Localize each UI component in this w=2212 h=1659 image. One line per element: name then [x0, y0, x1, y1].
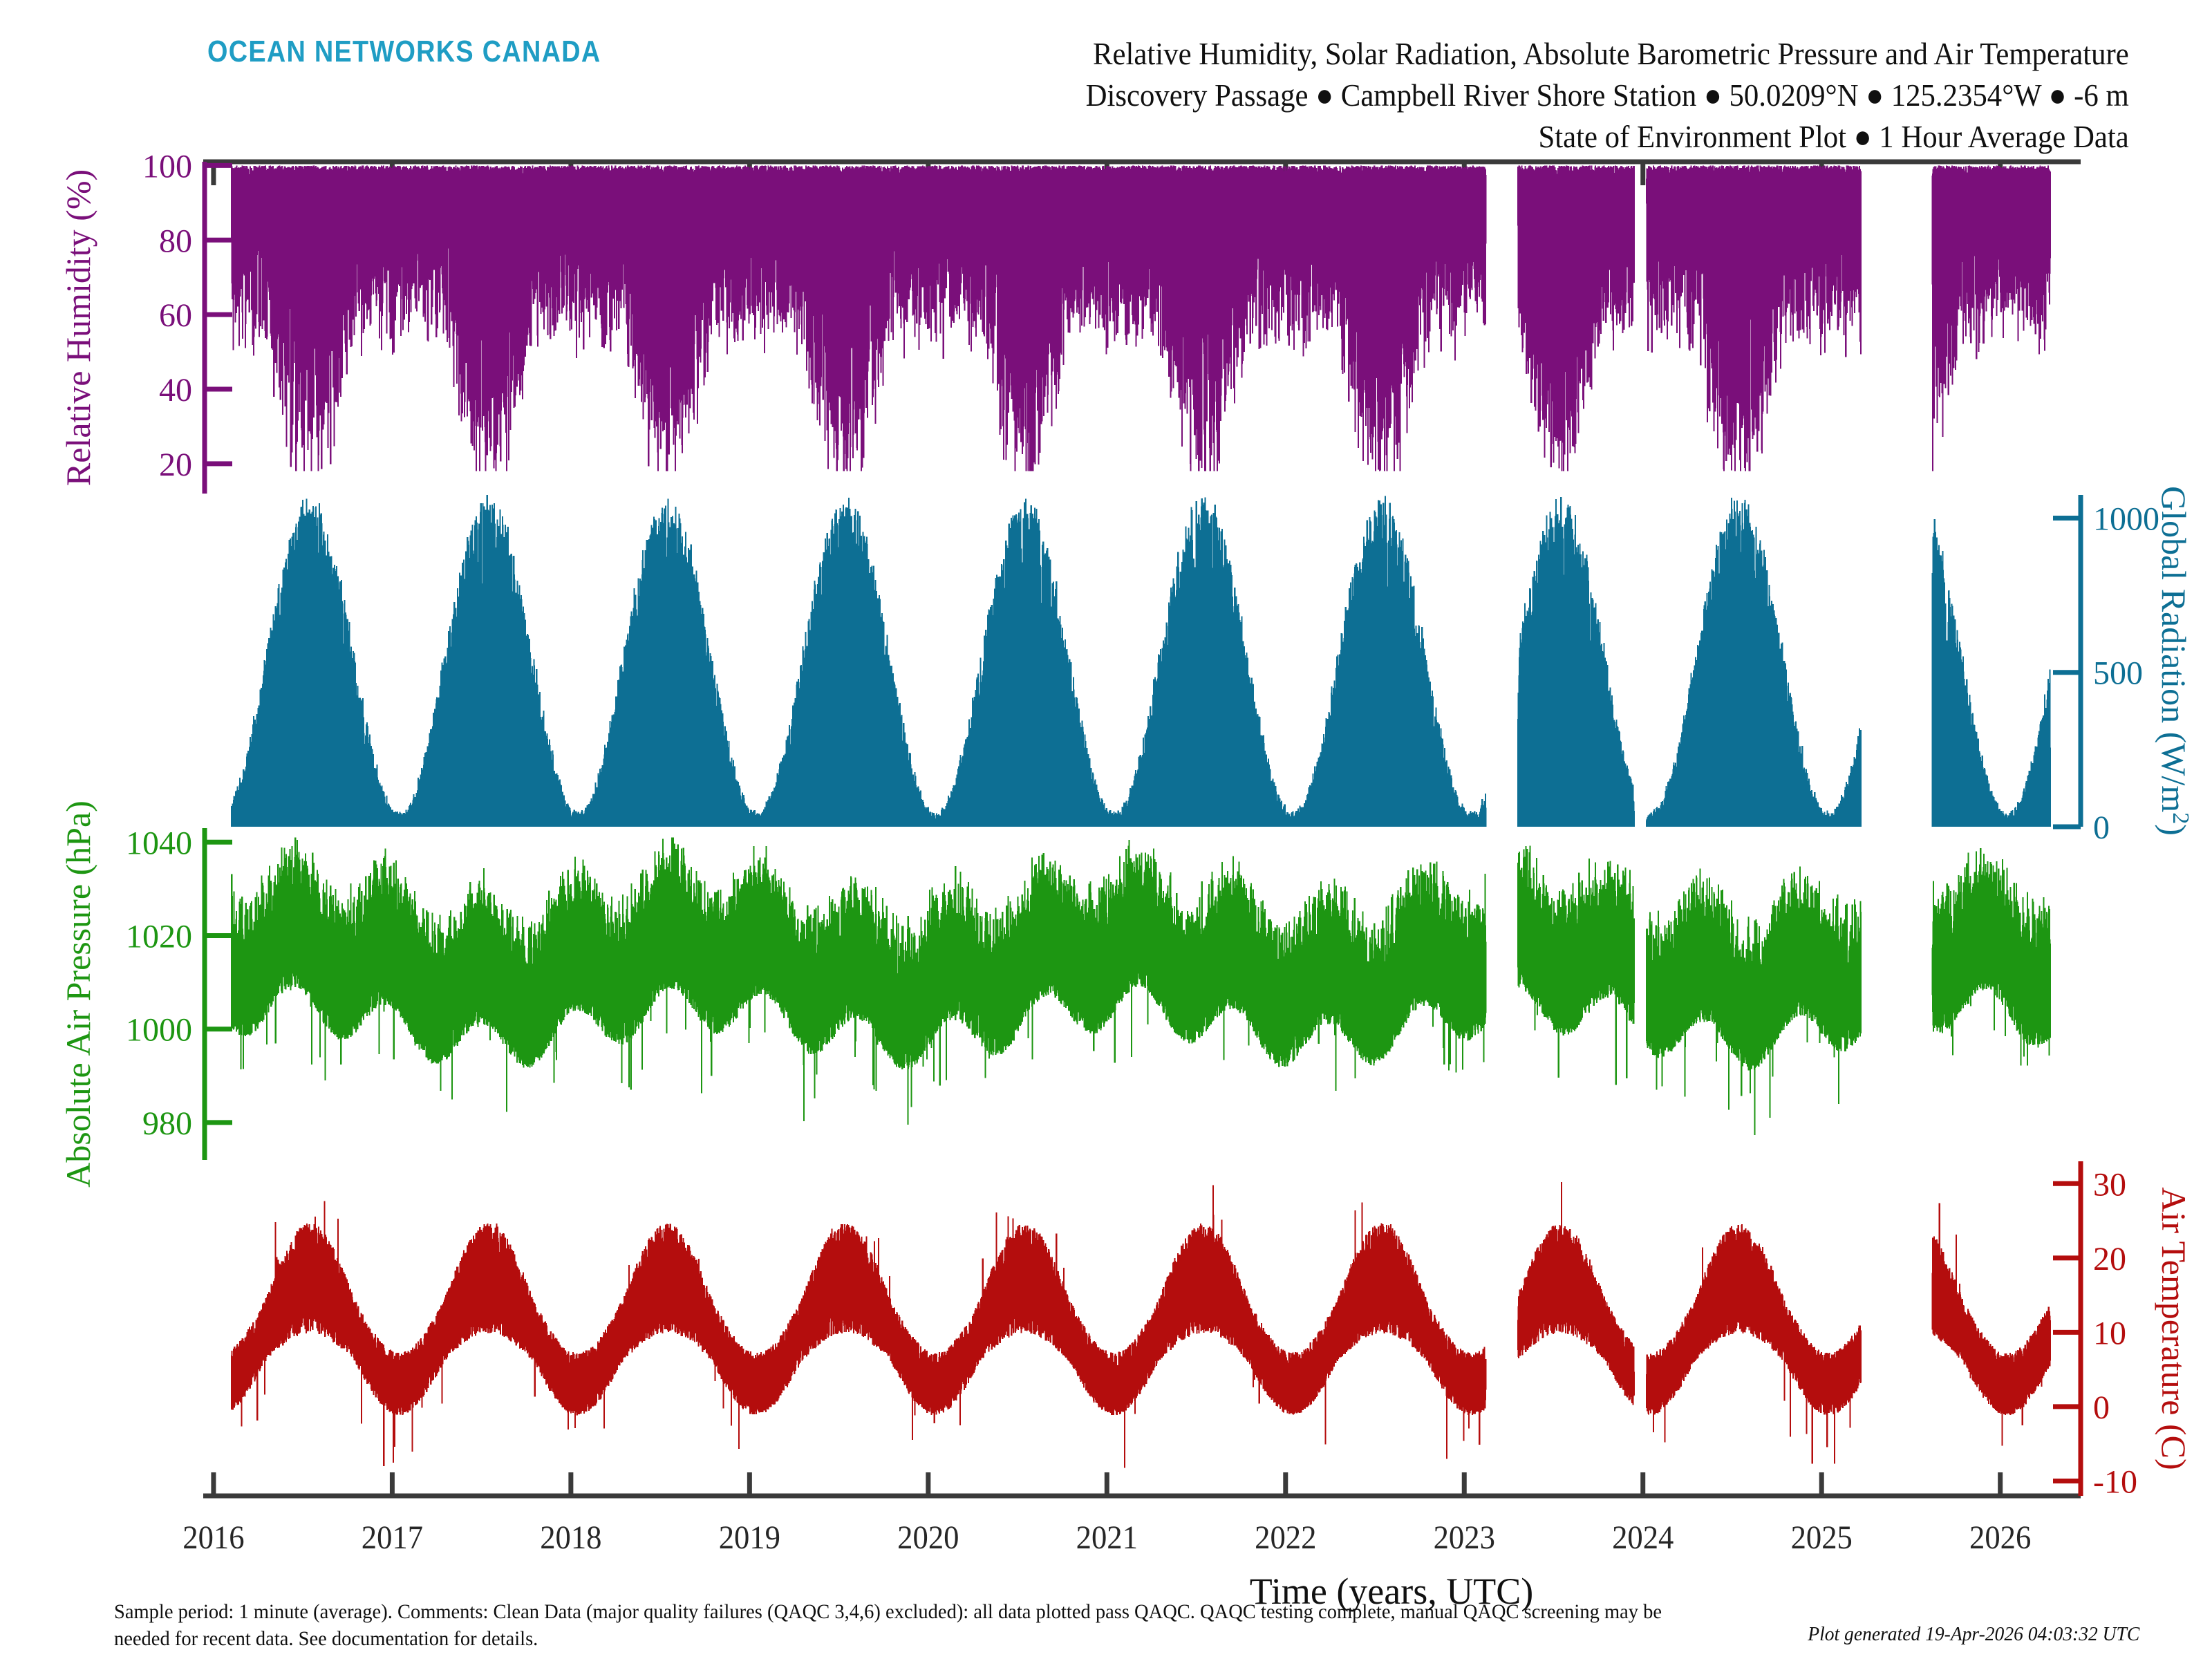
- y-tick-label-relative-humidity: 100: [142, 148, 192, 185]
- y-tick-label-absolute-air-pressure: 1020: [126, 918, 192, 955]
- y-tick-label-relative-humidity: 40: [159, 372, 192, 409]
- series-global-radiation: [232, 495, 2050, 827]
- y-tick-label-air-temperature: 30: [2093, 1166, 2126, 1203]
- x-tick-label: 2017: [362, 1520, 423, 1557]
- x-tick-label: 2026: [1969, 1520, 2031, 1557]
- y-tick-label-absolute-air-pressure: 1040: [126, 825, 192, 861]
- x-tick-label: 2016: [182, 1520, 244, 1557]
- y-tick-label-global-radiation: 1000: [2093, 500, 2159, 537]
- y-tick-label-global-radiation: 500: [2093, 655, 2143, 692]
- data-trace-relative-humidity: [232, 165, 2050, 471]
- y-tick-label-absolute-air-pressure: 980: [142, 1105, 192, 1142]
- panel-relative-humidity: 20406080100Relative Humidity (%): [59, 148, 232, 494]
- superscript-2: 2: [2168, 812, 2193, 824]
- y-tick-label-air-temperature: 10: [2093, 1315, 2126, 1351]
- x-tick-label: 2025: [1791, 1520, 1853, 1557]
- multi-panel-timeseries-chart: 2016201720182019202020212022202320242025…: [0, 0, 2212, 1659]
- panel-absolute-air-pressure: 980100010201040Absolute Air Pressure (hP…: [59, 800, 232, 1188]
- y-axis-label-global-radiation: Global Radiation (W/m2): [2155, 486, 2193, 836]
- y-axis-label-relative-humidity: Relative Humidity (%): [59, 169, 97, 486]
- x-tick-label: 2023: [1434, 1520, 1495, 1557]
- plot-canvas: OCEAN NETWORKS CANADA Relative Humidity,…: [0, 0, 2212, 1659]
- series-relative-humidity: [232, 165, 2050, 471]
- y-axis-label-absolute-air-pressure: Absolute Air Pressure (hPa): [59, 800, 97, 1188]
- y-tick-label-global-radiation: 0: [2093, 809, 2110, 846]
- x-tick-label: 2022: [1255, 1520, 1316, 1557]
- y-tick-label-air-temperature: 20: [2093, 1241, 2126, 1277]
- x-tick-label: 2020: [897, 1520, 959, 1557]
- series-air-temperature: [232, 1182, 2050, 1468]
- y-tick-label-relative-humidity: 20: [159, 447, 192, 483]
- x-tick-label: 2021: [1076, 1520, 1138, 1557]
- y-tick-label-relative-humidity: 60: [159, 297, 192, 334]
- plot-generated-timestamp: Plot generated 19-Apr-2026 04:03:32 UTC: [1808, 1623, 2139, 1646]
- series-absolute-air-pressure: [232, 838, 2050, 1136]
- data-trace-air-temperature: [232, 1182, 2050, 1468]
- y-tick-label-air-temperature: 0: [2093, 1389, 2110, 1426]
- panel-air-temperature: 3020100-10Air Temperature (C): [2053, 1161, 2193, 1500]
- qaqc-footnote: Sample period: 1 minute (average). Comme…: [114, 1598, 1703, 1652]
- y-tick-label-absolute-air-pressure: 1000: [126, 1012, 192, 1049]
- panel-global-radiation: 05001000Global Radiation (W/m2): [2053, 486, 2193, 846]
- x-tick-label: 2018: [540, 1520, 601, 1557]
- y-tick-label-relative-humidity: 80: [159, 223, 192, 259]
- x-tick-label: 2024: [1612, 1520, 1674, 1557]
- x-tick-label: 2019: [719, 1520, 780, 1557]
- y-tick-label-air-temperature: -10: [2093, 1463, 2137, 1500]
- data-trace-absolute-air-pressure: [232, 838, 2050, 1136]
- data-trace-global-radiation: [232, 495, 2050, 827]
- y-axis-label-air-temperature: Air Temperature (C): [2155, 1187, 2193, 1470]
- closing-paren: ): [2155, 824, 2193, 836]
